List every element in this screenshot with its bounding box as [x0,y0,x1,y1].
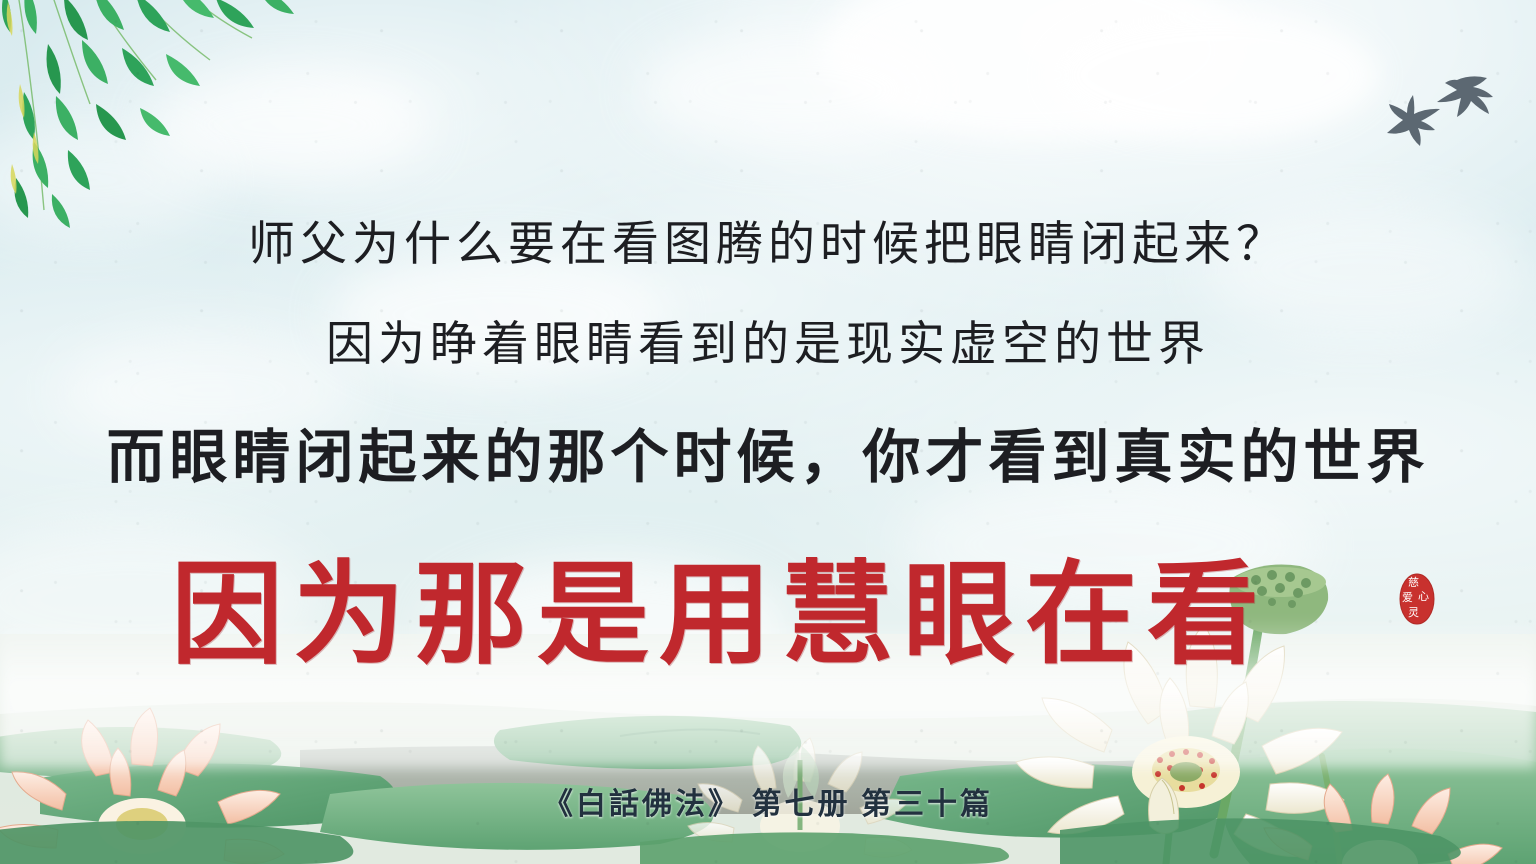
seal-char-2: 爱 [1402,593,1413,604]
seal-char-3: 心 [1418,592,1429,603]
source-caption: 《白話佛法》 第七册 第三十篇 [0,779,1536,823]
quote-line-2: 因为睁着眼睛看到的是现实虚空的世界 [0,305,1536,374]
poster-canvas: 师父为什么要在看图腾的时候把眼睛闭起来？ 因为睁着眼睛看到的是现实虚空的世界 而… [0,0,1536,864]
seal-stamp: 慈 爱 心 灵 [1398,572,1436,626]
quote-line-3: 而眼睛闭起来的那个时候，你才看到真实的世界 [0,410,1536,494]
text-block: 师父为什么要在看图腾的时候把眼睛闭起来？ 因为睁着眼睛看到的是现实虚空的世界 而… [0,0,1536,864]
headline-text: 因为那是用慧眼在看 [0,524,1488,686]
seal-char-4: 灵 [1408,608,1419,619]
seal-char-1: 慈 [1408,578,1419,589]
quote-line-1: 师父为什么要在看图腾的时候把眼睛闭起来？ [0,205,1536,274]
